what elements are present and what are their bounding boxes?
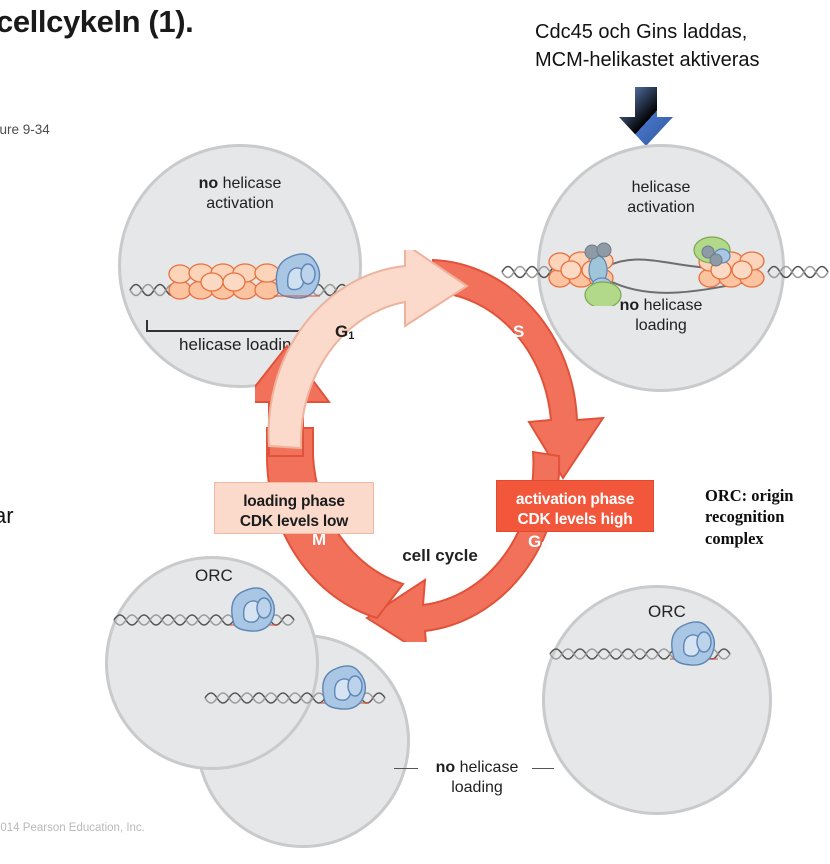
dna-orc-diagram-bottom-left-lower [203, 664, 411, 720]
annotation-top-right: Cdc45 och Gins laddas, MCM-helikastet ak… [535, 18, 830, 75]
phase-label-g1: G1 [335, 322, 354, 342]
leader-label-no-helicase-loading: no helicase loading [414, 758, 540, 798]
loading-phase-line-1: loading phase [215, 492, 373, 512]
loading-phase-box: loading phase CDK levels low [214, 482, 374, 534]
cell-cycle-ring [255, 250, 615, 642]
copyright-notice: 2014 Pearson Education, Inc. [0, 822, 145, 834]
activation-phase-box: activation phase CDK levels high [496, 480, 654, 532]
loading-phase-line-2: CDK levels low [215, 512, 373, 532]
activation-phase-line-2: CDK levels high [497, 510, 653, 530]
activation-phase-line-1: activation phase [497, 490, 653, 510]
orc-tag-bottom-left: ORC [195, 566, 233, 586]
cell-cycle-center-label: cell cycle [380, 546, 500, 566]
leader-bold-no: no [436, 759, 456, 776]
page-title: cellcykeln (1). [0, 4, 193, 40]
phase-label-g2: G2 [528, 532, 547, 552]
cell-cycle-figure: no helicase activation [0, 130, 830, 830]
leader-line-2: loading [414, 778, 540, 798]
annotation-line-2: MCM-helikastet aktiveras [535, 46, 830, 74]
slide-canvas: cellcykeln (1). gure 9-34 Cdc45 och Gins… [0, 0, 830, 864]
phase-label-s: S [513, 322, 524, 342]
orc-tag-bottom-right: ORC [648, 602, 686, 622]
leader-rest: helicase [455, 759, 518, 776]
annotation-line-1: Cdc45 och Gins laddas, [535, 18, 830, 46]
